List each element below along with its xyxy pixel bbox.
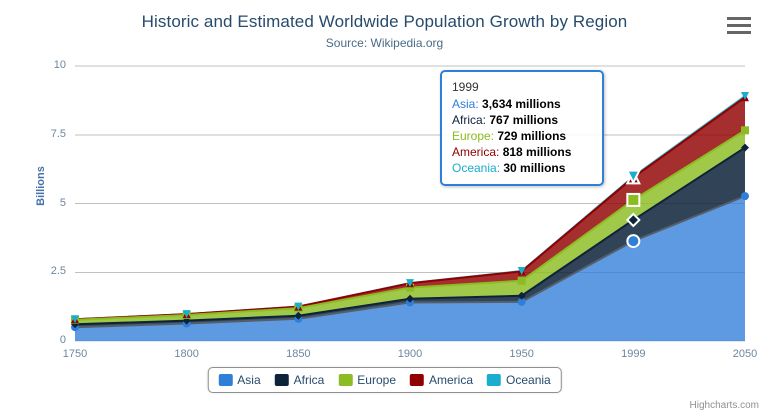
legend-swatch-asia	[218, 374, 232, 386]
tooltip-header: 1999	[452, 79, 592, 95]
point-asia-2050	[741, 192, 749, 200]
x-tick-1999: 1999	[603, 348, 663, 360]
tooltip: 1999 Asia: 3,634 millionsAfrica: 767 mil…	[440, 70, 604, 186]
x-tick-1900: 1900	[380, 348, 440, 360]
point-europe-2050	[741, 126, 749, 134]
legend-label-africa: Africa	[294, 373, 325, 387]
tooltip-row-oceania: Oceania: 30 millions	[452, 160, 592, 176]
x-tick-1950: 1950	[492, 348, 552, 360]
y-tick-0: 0	[20, 334, 66, 346]
chart-legend[interactable]: Asia Africa Europe America Oceania	[207, 367, 561, 393]
y-axis-title: Billions	[35, 141, 47, 231]
y-tick-2.5: 2.5	[20, 265, 66, 277]
point-asia-1999	[627, 235, 639, 247]
x-tick-1800: 1800	[157, 348, 217, 360]
credits-link[interactable]: Highcharts.com	[690, 400, 759, 411]
tooltip-row-america: America: 818 millions	[452, 144, 592, 160]
y-tick-7.5: 7.5	[20, 128, 66, 140]
tooltip-row-africa: Africa: 767 millions	[452, 112, 592, 128]
legend-label-oceania: Oceania	[506, 373, 551, 387]
legend-swatch-africa	[275, 374, 289, 386]
legend-label-europe: Europe	[357, 373, 396, 387]
legend-item-africa[interactable]: Africa	[275, 373, 325, 387]
plot-area: Billions 02.557.510 17501800185019001950…	[0, 0, 769, 416]
tooltip-row-asia: Asia: 3,634 millions	[452, 96, 592, 112]
legend-swatch-oceania	[487, 374, 501, 386]
legend-swatch-europe	[338, 374, 352, 386]
legend-item-asia[interactable]: Asia	[218, 373, 260, 387]
y-tick-10: 10	[20, 59, 66, 71]
x-tick-1750: 1750	[45, 348, 105, 360]
point-europe-1950	[518, 277, 526, 285]
legend-item-america[interactable]: America	[410, 373, 473, 387]
legend-label-america: America	[429, 373, 473, 387]
point-europe-1999	[627, 194, 639, 206]
legend-label-asia: Asia	[237, 373, 260, 387]
x-tick-1850: 1850	[268, 348, 328, 360]
x-tick-2050: 2050	[715, 348, 769, 360]
y-tick-5: 5	[20, 197, 66, 209]
tooltip-rows: Asia: 3,634 millionsAfrica: 767 millions…	[452, 96, 592, 176]
legend-swatch-america	[410, 374, 424, 386]
legend-item-oceania[interactable]: Oceania	[487, 373, 551, 387]
tooltip-row-europe: Europe: 729 millions	[452, 128, 592, 144]
highcharts-container: Historic and Estimated Worldwide Populat…	[0, 0, 769, 416]
legend-item-europe[interactable]: Europe	[338, 373, 396, 387]
